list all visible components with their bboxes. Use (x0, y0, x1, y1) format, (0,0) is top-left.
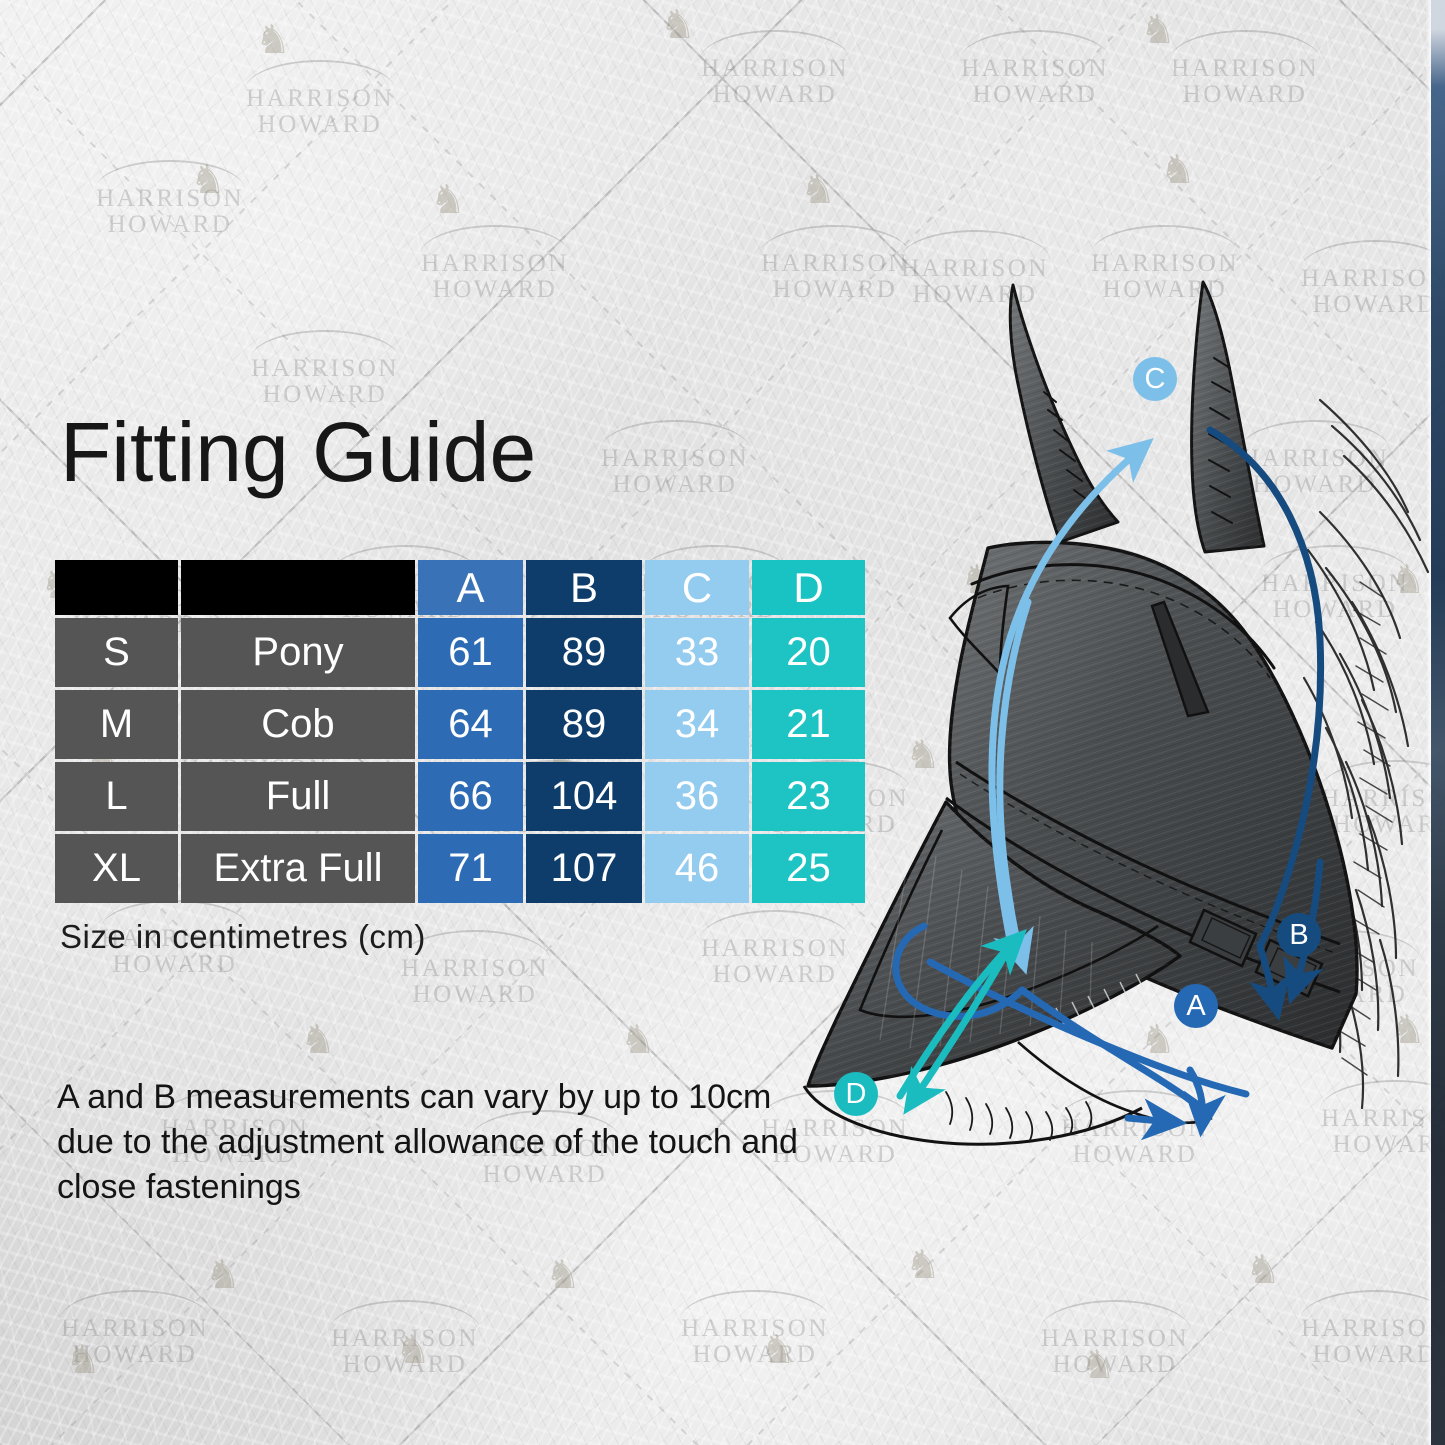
brand-horse-icon: ♞ (1245, 1250, 1281, 1290)
brand-horse-icon: ♞ (205, 1255, 241, 1295)
brand-watermark: HARRISONHOWARD (600, 420, 750, 497)
marker-badge-b: B (1277, 913, 1321, 957)
table-row: LFull661043623 (55, 762, 865, 831)
brand-horse-icon: ♞ (1160, 150, 1196, 190)
brand-watermark: HARRISONHOWARD (95, 160, 245, 237)
cell-col-type: Cob (181, 690, 415, 759)
table-header-row: ABCD (55, 560, 865, 615)
page-title: Fitting Guide (60, 404, 536, 501)
cell-col-c: 46 (645, 834, 749, 903)
brand-horse-icon: ♞ (300, 1020, 336, 1060)
marker-badge-d: D (834, 1072, 878, 1116)
brand-watermark: HARRISONHOWARD (960, 30, 1110, 107)
brand-watermark: HARRISONHOWARD (1300, 1290, 1445, 1367)
brand-horse-icon: ♞ (1140, 10, 1176, 50)
cell-col-c: 34 (645, 690, 749, 759)
header-col-type (181, 560, 415, 615)
cell-col-a: 71 (418, 834, 523, 903)
brand-horse-icon: ♞ (255, 20, 291, 60)
measurement-disclaimer: A and B measurements can vary by up to 1… (57, 1075, 827, 1211)
cell-col-a: 61 (418, 618, 523, 687)
size-chart-table: ABCDSPony61893320MCob64893421LFull661043… (52, 557, 868, 906)
brand-watermark: HARRISONHOWARD (330, 1300, 480, 1377)
brand-watermark: HARRISONHOWARD (420, 225, 570, 302)
cell-col-b: 89 (526, 690, 642, 759)
cell-col-b: 107 (526, 834, 642, 903)
cell-col-type: Full (181, 762, 415, 831)
table-row: SPony61893320 (55, 618, 865, 687)
header-col-c: C (645, 560, 749, 615)
brand-watermark: HARRISONHOWARD (680, 1290, 830, 1367)
brand-watermark: HARRISONHOWARD (250, 330, 400, 407)
cell-col-type: Pony (181, 618, 415, 687)
cell-col-b: 104 (526, 762, 642, 831)
brand-horse-icon: ♞ (395, 1330, 431, 1370)
brand-horse-icon: ♞ (660, 5, 696, 45)
cell-col-a: 64 (418, 690, 523, 759)
cell-col-a: 66 (418, 762, 523, 831)
brand-watermark: HARRISONHOWARD (245, 60, 395, 137)
brand-watermark: HARRISONHOWARD (1170, 30, 1320, 107)
brand-watermark: HARRISONHOWARD (60, 1290, 210, 1367)
cell-col-size: S (55, 618, 178, 687)
brand-horse-icon: ♞ (760, 1330, 796, 1370)
brand-watermark: HARRISONHOWARD (1040, 1300, 1190, 1377)
brand-horse-icon: ♞ (190, 160, 226, 200)
cell-col-b: 89 (526, 618, 642, 687)
horse-fly-mask-illustration (760, 250, 1445, 1140)
cell-col-type: Extra Full (181, 834, 415, 903)
brand-horse-icon: ♞ (620, 1020, 656, 1060)
fitting-guide-page: HARRISONHOWARDHARRISONHOWARDHARRISONHOWA… (0, 0, 1445, 1445)
cell-col-size: M (55, 690, 178, 759)
brand-horse-icon: ♞ (905, 1245, 941, 1285)
cell-col-c: 36 (645, 762, 749, 831)
brand-horse-icon: ♞ (1080, 1345, 1116, 1385)
marker-badge-c: C (1133, 357, 1177, 401)
cell-col-size: L (55, 762, 178, 831)
cell-col-c: 33 (645, 618, 749, 687)
brand-watermark: HARRISONHOWARD (700, 30, 850, 107)
brand-horse-icon: ♞ (430, 180, 466, 220)
brand-horse-icon: ♞ (65, 1340, 101, 1380)
brand-horse-icon: ♞ (800, 170, 836, 210)
table-row: MCob64893421 (55, 690, 865, 759)
brand-horse-icon: ♞ (545, 1255, 581, 1295)
header-col-a: A (418, 560, 523, 615)
marker-badge-a: A (1174, 984, 1218, 1028)
header-col-b: B (526, 560, 642, 615)
header-col-size (55, 560, 178, 615)
table-row: XLExtra Full711074625 (55, 834, 865, 903)
cell-col-size: XL (55, 834, 178, 903)
unit-note: Size in centimetres (cm) (60, 918, 426, 956)
